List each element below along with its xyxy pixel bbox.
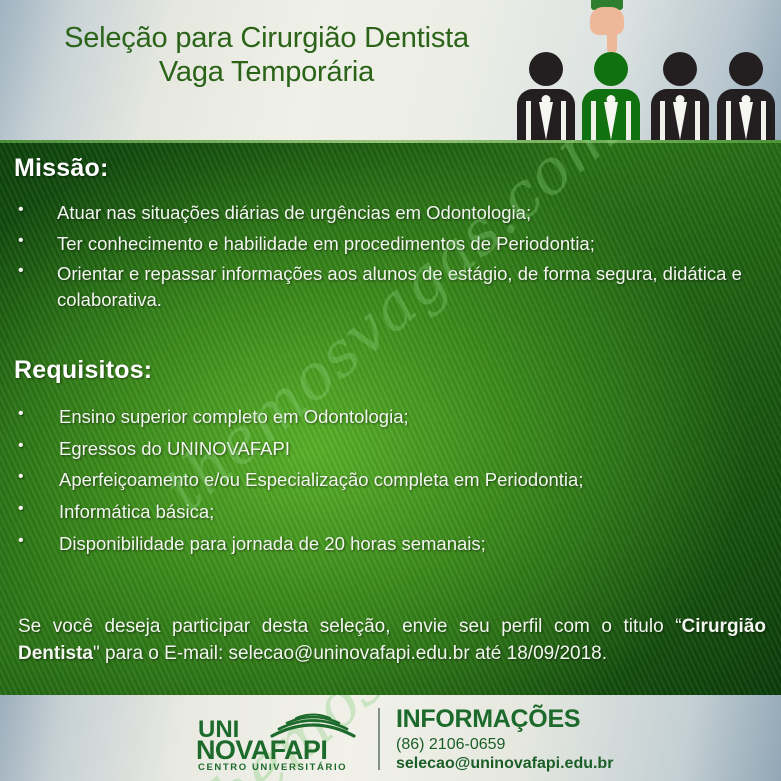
person-head <box>663 52 697 86</box>
person-icon-3 <box>651 52 709 140</box>
job-posting-poster: Seleção para Cirurgião Dentista Vaga Tem… <box>0 0 781 781</box>
requirements-list: Ensino superior completo em Odontologia;… <box>0 404 781 563</box>
poster-body: Missão: Atuar nas situações diárias de u… <box>0 140 781 695</box>
person-arm-left <box>526 101 531 140</box>
list-item: Ensino superior completo em Odontologia; <box>0 404 781 430</box>
page-title: Seleção para Cirurgião Dentista Vaga Tem… <box>14 22 519 89</box>
footer-divider <box>378 708 380 770</box>
list-item: Disponibilidade para jornada de 20 horas… <box>0 531 781 557</box>
footer-content: UNI NOVAFAPI CENTRO UNIVERSITÁRIO INFORM… <box>196 703 613 775</box>
list-item: Orientar e repassar informações aos alun… <box>0 261 781 312</box>
uninovafapi-logo: UNI NOVAFAPI CENTRO UNIVERSITÁRIO <box>196 706 356 772</box>
apply-email[interactable]: selecao@uninovafapi.edu.br <box>229 643 470 664</box>
person-arm-left <box>591 101 596 140</box>
requirements-heading: Requisitos: <box>14 356 152 385</box>
person-arm-right <box>561 101 566 140</box>
person-arm-left <box>726 101 731 140</box>
person-icon-4 <box>717 52 775 140</box>
person-icon-1 <box>517 52 575 140</box>
apply-quote-close: " <box>93 643 100 664</box>
page-title-line-1: Seleção para Cirurgião Dentista <box>14 22 519 56</box>
apply-middle-text: para o E-mail: <box>100 643 229 664</box>
person-head <box>729 52 763 86</box>
person-tie <box>739 102 753 140</box>
poster-footer: themosvagas.com.br UNI NOVAFAPI CENTRO U… <box>0 695 781 781</box>
apply-deadline-prefix: até <box>470 643 507 664</box>
mission-heading: Missão: <box>14 154 108 183</box>
contact-phone[interactable]: (86) 2106-0659 <box>396 735 613 755</box>
contact-info-title: INFORMAÇÕES <box>396 706 613 732</box>
contact-email[interactable]: selecao@uninovafapi.edu.br <box>396 754 613 774</box>
person-icon-2-selected <box>582 52 640 140</box>
person-tie <box>604 102 618 140</box>
list-item: Atuar nas situações diárias de urgências… <box>0 200 781 226</box>
page-title-line-2: Vaga Temporária <box>14 56 519 90</box>
person-head <box>594 52 628 86</box>
person-arm-left <box>660 101 665 140</box>
contact-info-block: INFORMAÇÕES (86) 2106-0659 selecao@unino… <box>396 706 613 773</box>
list-item: Informática básica; <box>0 499 781 525</box>
poster-header: Seleção para Cirurgião Dentista Vaga Tem… <box>0 0 781 140</box>
person-arm-right <box>695 101 700 140</box>
hand-index-finger <box>607 29 617 54</box>
application-instructions: Se você deseja participar desta seleção,… <box>18 614 766 668</box>
apply-deadline-date: 18/09/2018. <box>507 643 607 664</box>
person-head <box>529 52 563 86</box>
businessmen-illustration <box>501 0 781 140</box>
logo-tagline: CENTRO UNIVERSITÁRIO <box>198 762 347 773</box>
poster-content: Missão: Atuar nas situações diárias de u… <box>0 140 781 695</box>
list-item: Egressos do UNINOVAFAPI <box>0 436 781 462</box>
person-tie <box>673 102 687 140</box>
mission-list: Atuar nas situações diárias de urgências… <box>0 200 781 318</box>
apply-lead-text: Se você deseja participar desta seleção,… <box>18 616 675 637</box>
list-item: Aperfeiçoamento e/ou Especialização comp… <box>0 467 781 493</box>
person-arm-right <box>761 101 766 140</box>
person-arm-right <box>626 101 631 140</box>
list-item: Ter conhecimento e habilidade em procedi… <box>0 231 781 257</box>
pointing-hand-icon <box>590 0 624 56</box>
person-tie <box>539 102 553 140</box>
